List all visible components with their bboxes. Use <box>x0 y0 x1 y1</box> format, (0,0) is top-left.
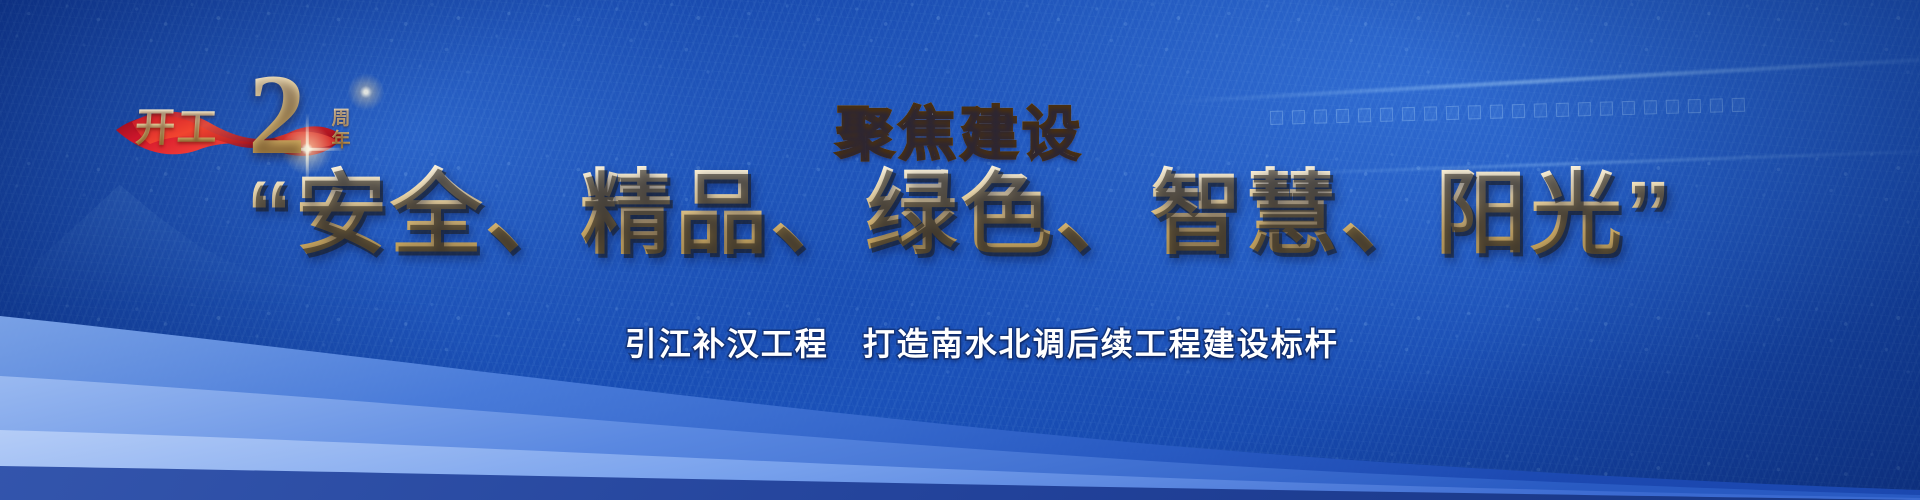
eyebrow-label: 聚焦建设 <box>836 102 1084 167</box>
subtitle: 引江补汉工程 打造南水北调后续工程建设标杆 <box>0 296 1920 392</box>
subtitle-label: 引江补汉工程 打造南水北调后续工程建设标杆 <box>625 326 1339 362</box>
eyebrow-text: 聚焦建设 <box>0 106 1920 164</box>
anniversary-banner: 开工 2 周年 聚焦建设 “安全、精品、绿色、智慧、阳光” 引江补汉工程 打造南… <box>0 0 1920 500</box>
page-title: “安全、精品、绿色、智慧、阳光” <box>0 168 1920 260</box>
headline-label: “安全、精品、绿色、智慧、阳光” <box>246 163 1674 265</box>
